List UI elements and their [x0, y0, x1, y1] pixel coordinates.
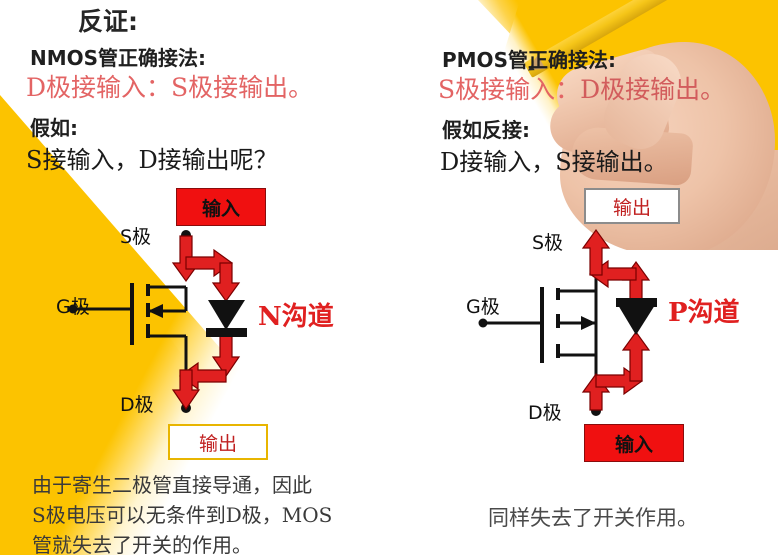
right-mosfet-schematic	[0, 0, 778, 555]
right-conclusion-text: 同样失去了开关作用。	[488, 502, 698, 532]
slide-canvas: 反证: NMOS管正确接法: D极接输入：S极接输出。 假如: S接输入，D接输…	[0, 0, 778, 555]
right-channel-label: P沟道	[668, 292, 740, 329]
right-input-box: 输入	[584, 424, 684, 462]
